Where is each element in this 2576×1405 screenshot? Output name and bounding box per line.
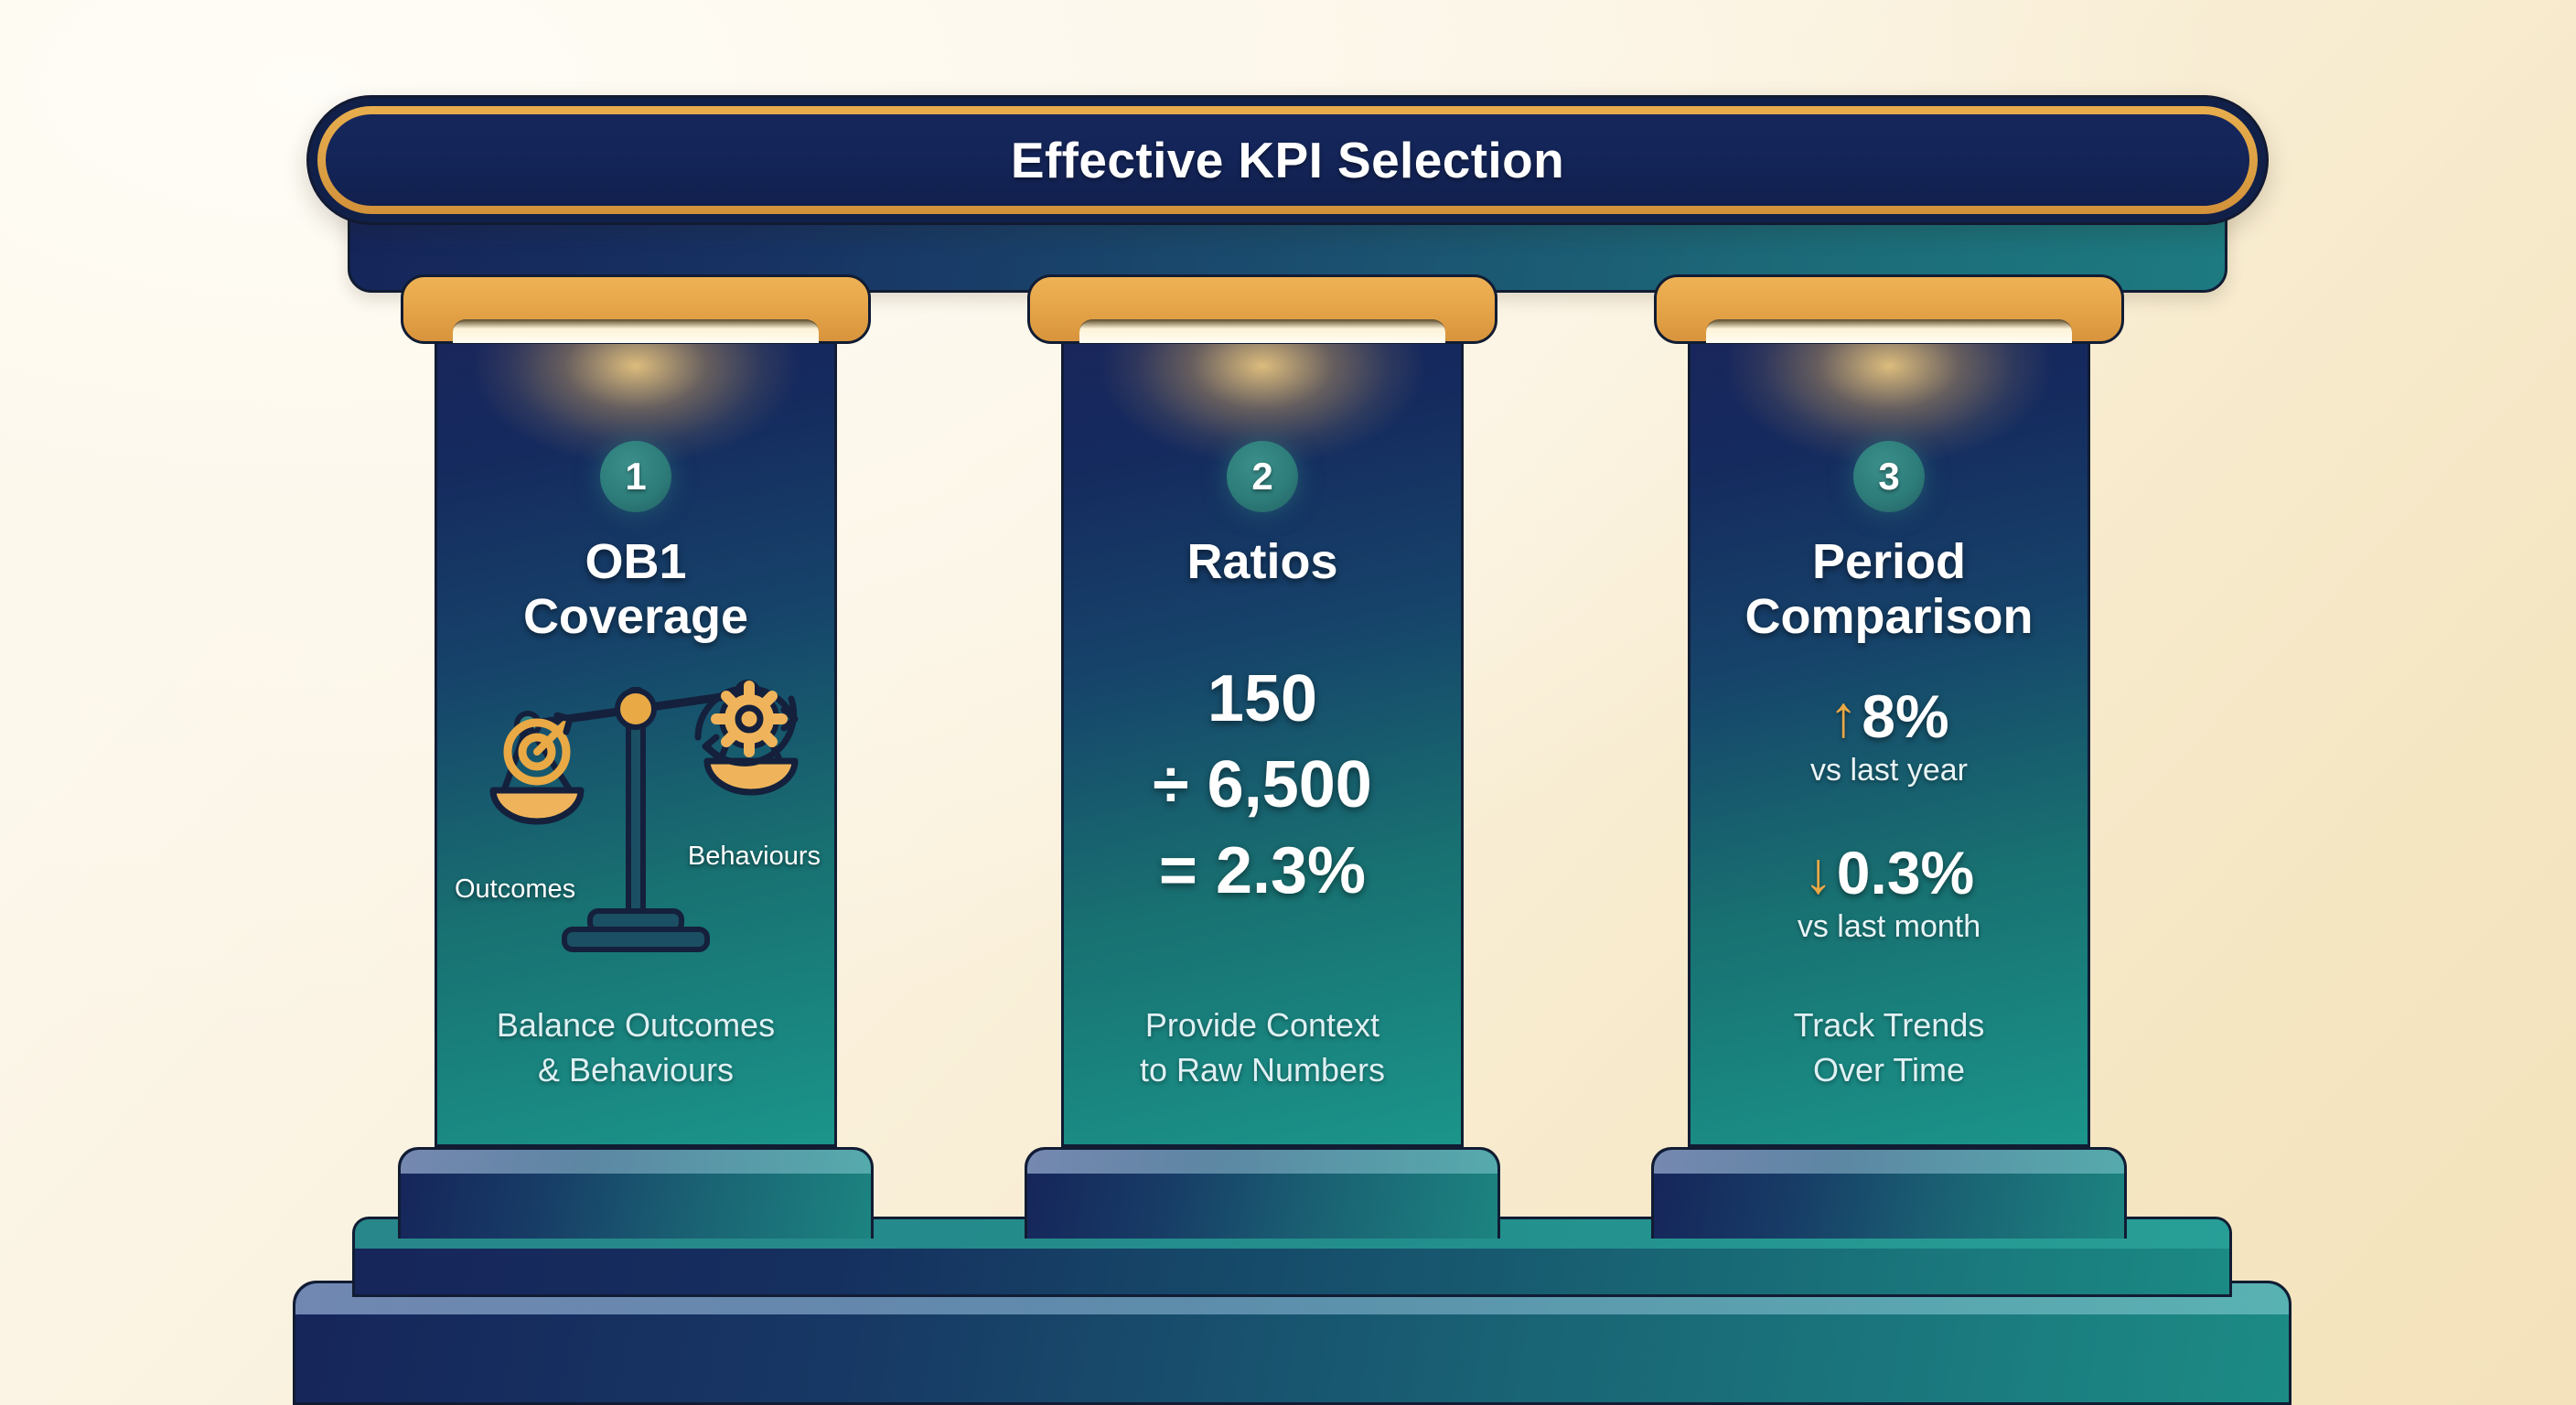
trend-vs-last-year: ↑ 8% vs last year [1810, 681, 1968, 788]
pillar-2-body: 150 ÷ 6,500 = 2.3% [1064, 589, 1461, 1003]
pillar-2-capital [1027, 274, 1497, 344]
plinth-step-lower [293, 1281, 2292, 1405]
pillar-1-shaft: 1 OB1 Coverage [435, 344, 837, 1147]
pillar-3: 3 Period Comparison ↑ 8% vs last year [1688, 274, 2090, 1239]
formula-result-line: = 2.3% [1153, 829, 1372, 915]
ratio-formula: 150 ÷ 6,500 = 2.3% [1153, 657, 1372, 914]
pillar-3-caption-line2: Over Time [1794, 1048, 1985, 1093]
pillar-2-title: Ratios [1174, 534, 1350, 589]
formula-divider-line: ÷ 6,500 [1153, 743, 1372, 829]
pillar-1-caption: Balance Outcomes & Behaviours [480, 1003, 791, 1093]
pillar-3-light-strip [1706, 319, 2072, 343]
title-face: Effective KPI Selection [326, 114, 2249, 206]
trend-vs-last-month: ↓ 0.3% vs last month [1798, 838, 1980, 945]
pillar-1-capital [401, 274, 871, 344]
pillar-3-title-line1: Period [1744, 534, 2033, 589]
pillar-1: 1 OB1 Coverage [435, 274, 837, 1239]
pillar-2-caption: Provide Context to Raw Numbers [1123, 1003, 1401, 1093]
pillar-3-base [1651, 1147, 2127, 1239]
formula-numerator: 150 [1153, 657, 1372, 743]
pillar-1-number-badge: 1 [600, 441, 671, 512]
pillar-1-base [398, 1147, 874, 1239]
trend-year-value: 8% [1862, 681, 1948, 751]
pillar-3-capital [1654, 274, 2124, 344]
infographic-canvas: Effective KPI Selection 1 OB1 Coverage [0, 0, 2576, 1405]
trend-year-label: vs last year [1810, 753, 1968, 788]
balance-scale-icon: Outcomes Behaviours [462, 662, 810, 964]
pillar-2: 2 Ratios 150 ÷ 6,500 = 2.3% Provide Cont… [1061, 274, 1464, 1239]
pillar-1-caption-line2: & Behaviours [497, 1048, 775, 1093]
temple-diagram: Effective KPI Selection 1 OB1 Coverage [0, 0, 2576, 1405]
trend-month-label: vs last month [1798, 909, 1980, 945]
page-title: Effective KPI Selection [1011, 131, 1564, 189]
pillar-3-caption: Track Trends Over Time [1777, 1003, 2002, 1093]
pillar-1-title-line1: OB1 [523, 534, 748, 589]
pillar-3-shaft: 3 Period Comparison ↑ 8% vs last year [1688, 344, 2090, 1147]
pillar-2-light-strip [1079, 319, 1445, 343]
pillar-1-title-line2: Coverage [523, 589, 748, 644]
pillar-2-title-line1: Ratios [1186, 534, 1337, 589]
pillar-2-shaft: 2 Ratios 150 ÷ 6,500 = 2.3% Provide Cont… [1061, 344, 1464, 1147]
title-banner: Effective KPI Selection [306, 95, 2269, 225]
pillar-1-title: OB1 Coverage [510, 534, 761, 645]
pillar-3-title: Period Comparison [1732, 534, 2045, 645]
pillar-3-title-line2: Comparison [1744, 589, 2033, 644]
pillar-3-number-badge: 3 [1853, 441, 1925, 512]
pillar-1-caption-line1: Balance Outcomes [497, 1003, 775, 1048]
title-gold-frame: Effective KPI Selection [317, 106, 2258, 214]
pillar-2-caption-line1: Provide Context [1140, 1003, 1385, 1048]
pillar-2-base [1025, 1147, 1500, 1239]
trend-month-value: 0.3% [1837, 838, 1974, 907]
pillar-3-body: ↑ 8% vs last year ↓ 0.3% vs last month [1690, 645, 2088, 1003]
pillar-1-body: Outcomes Behaviours [437, 645, 834, 1003]
pillar-3-caption-line1: Track Trends [1794, 1003, 1985, 1048]
pillar-2-caption-line2: to Raw Numbers [1140, 1048, 1385, 1093]
up-arrow-icon: ↑ [1829, 687, 1858, 745]
scale-left-label: Outcomes [455, 874, 575, 905]
pillar-1-light-strip [453, 319, 819, 343]
pillar-2-number-badge: 2 [1227, 441, 1298, 512]
scale-right-label: Behaviours [688, 842, 821, 872]
down-arrow-icon: ↓ [1804, 843, 1833, 902]
